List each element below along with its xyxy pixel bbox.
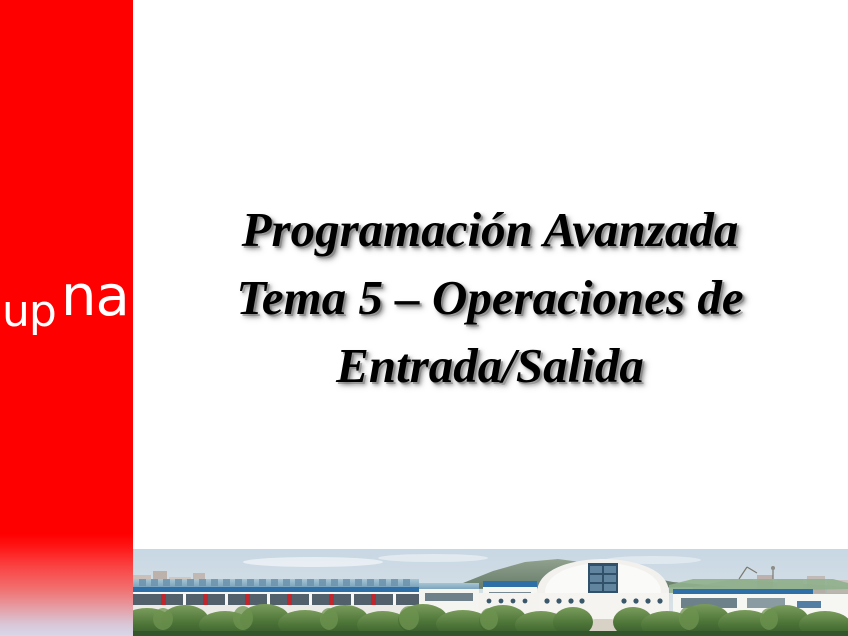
title-line-2: Tema 5 – Operaciones de — [160, 264, 820, 332]
title-line-1: Programación Avanzada — [160, 196, 820, 264]
logo-text-na: na — [61, 269, 129, 325]
campus-photograph — [133, 549, 848, 636]
title-slide: up na Programación Avanzada Tema 5 – Ope… — [0, 0, 848, 636]
slide-title: Programación Avanzada Tema 5 – Operacion… — [160, 196, 820, 400]
title-line-3: Entrada/Salida — [160, 332, 820, 400]
upna-logo: up na — [0, 268, 150, 330]
campus-photo-artwork — [133, 549, 848, 636]
logo-text-up: up — [2, 290, 56, 334]
